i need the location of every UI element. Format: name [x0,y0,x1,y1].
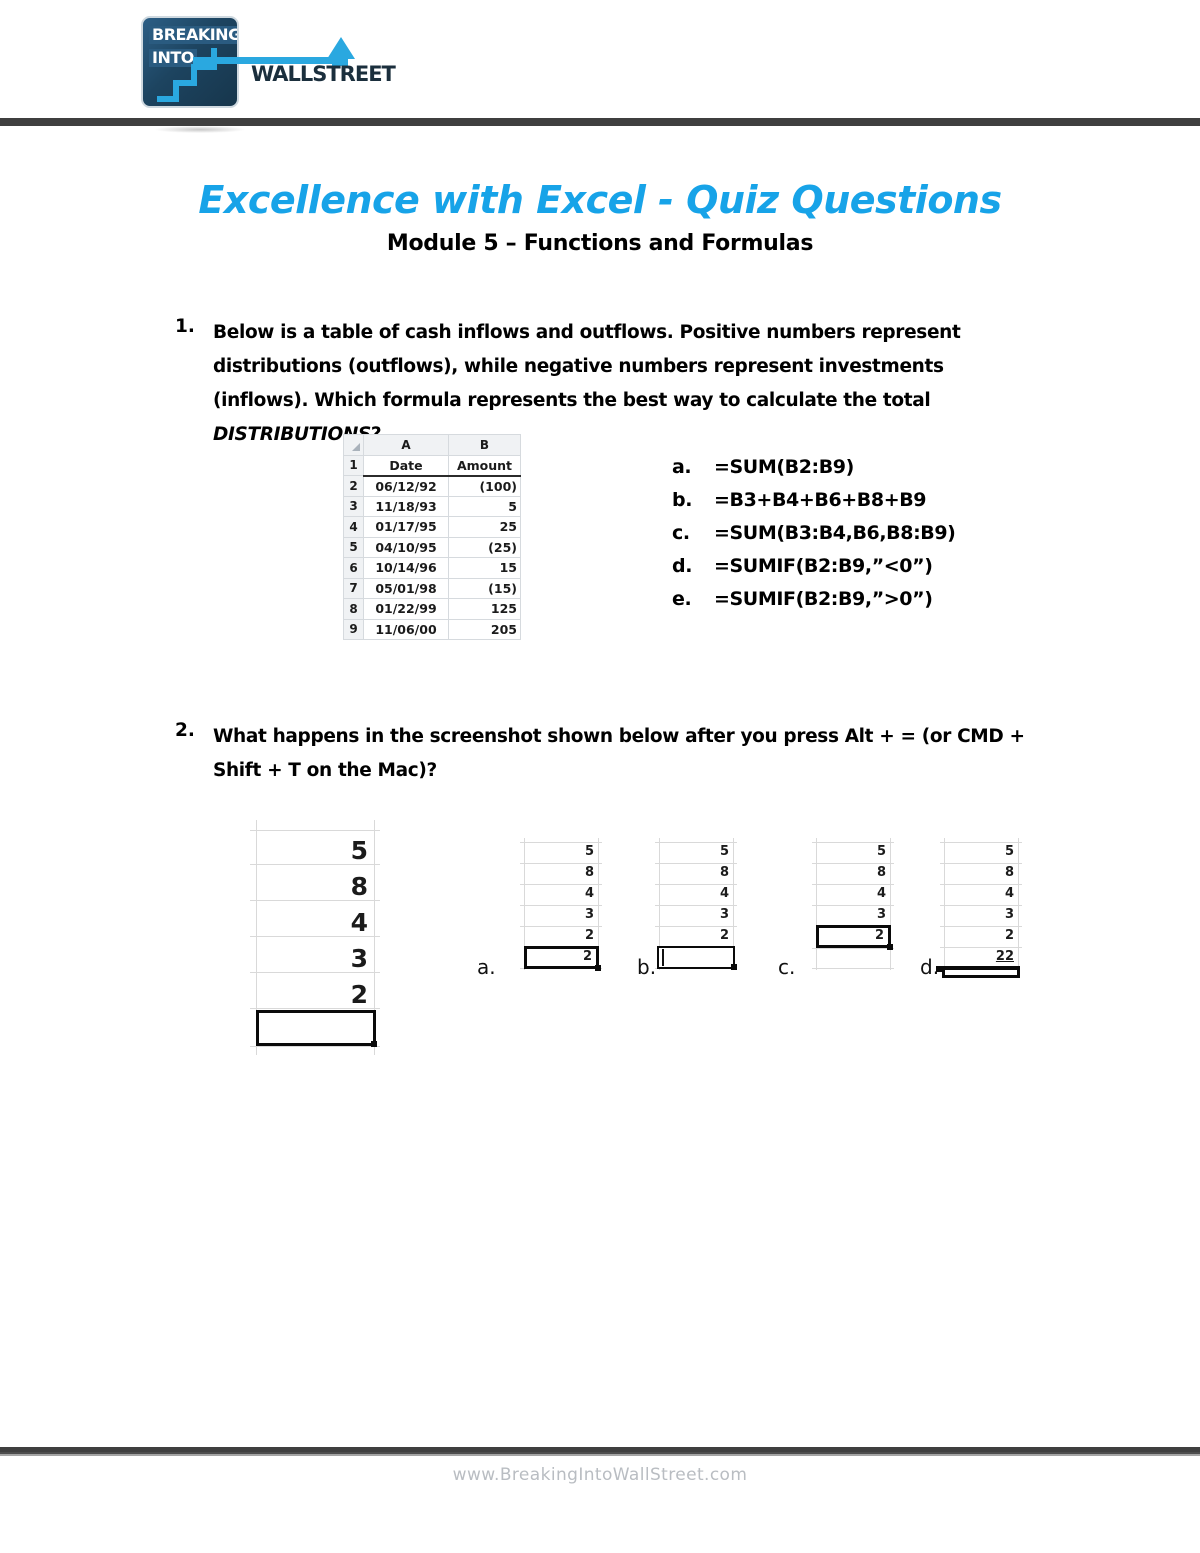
question-1-text-part1: Below is a table of cash inflows and out… [213,322,960,411]
grid-hline [812,968,894,969]
main-cell-value-3: 4 [310,908,368,937]
question-2-option-c-spreadsheet: 5 8 4 3 2 [812,838,894,973]
answer-option-e[interactable]: e. =SUMIF(B2:B9,”>0”) [672,583,955,616]
logo-text-wallstreet: WALLSTREET [251,62,395,86]
cell-a4: 01/17/95 [364,517,449,538]
question-2-option-a-spreadsheet: 5 8 4 3 2 2 [520,838,602,973]
cell-a1: Date [364,455,449,476]
answer-formula-a: =SUM(B2:B9) [714,451,854,484]
answer-formula-c: =SUM(B3:B4,B6,B8:B9) [714,517,955,550]
select-all-triangle-icon [344,435,364,456]
cell-b5: (25) [449,537,521,558]
row-header-7: 7 [344,578,364,599]
grid-hline [520,905,602,906]
option-c-fill-handle[interactable] [887,944,893,950]
table-row: 9 11/06/00 205 [344,619,521,640]
answer-letter-e: e. [672,583,714,616]
question-2-block: 2. What happens in the screenshot shown … [175,720,1065,788]
table-row: 4 01/17/95 25 [344,517,521,538]
main-cell-value-5: 2 [310,980,368,1009]
question-1-spreadsheet-table: A B 1 Date Amount 2 06/12/92 (100) 3 11/… [343,434,521,640]
document-subtitle: Module 5 – Functions and Formulas [0,231,1200,256]
grid-vline [944,838,945,970]
question-2-number: 2. [175,720,195,741]
header-shadow [155,126,245,133]
grid-vline [1018,838,1019,970]
answer-option-b[interactable]: b. =B3+B4+B6+B8+B9 [672,484,955,517]
option-a-cell-value-4: 3 [544,907,594,922]
grid-hline [812,905,894,906]
row-header-9: 9 [344,619,364,640]
answer-letter-d: d. [672,550,714,583]
option-a-cell-value-1: 5 [544,844,594,859]
grid-hline [812,842,894,843]
row-header-3: 3 [344,496,364,517]
table-row: 2 06/12/92 (100) [344,476,521,497]
cell-b2: (100) [449,476,521,497]
main-selected-cell[interactable] [256,1010,376,1046]
grid-hline [655,884,737,885]
main-cell-value-1: 5 [310,836,368,865]
option-b-selected-cell[interactable] [657,946,735,969]
grid-hline [655,905,737,906]
grid-hline [520,926,602,927]
question-1-answer-list: a. =SUM(B2:B9) b. =B3+B4+B6+B8+B9 c. =SU… [672,451,955,616]
row-header-1: 1 [344,455,364,476]
grid-hline [250,1046,380,1047]
option-d-cell-value-3: 4 [964,886,1014,901]
cell-a6: 10/14/96 [364,558,449,579]
cell-a2: 06/12/92 [364,476,449,497]
option-b-cell-value-5: 2 [679,928,729,943]
cell-b3: 5 [449,496,521,517]
cell-a5: 04/10/95 [364,537,449,558]
row-header-5: 5 [344,537,364,558]
grid-hline [520,884,602,885]
grid-hline [940,926,1022,927]
option-a-cell-value-3: 4 [544,886,594,901]
option-d-cell-value-5: 2 [964,928,1014,943]
table-row: 6 10/14/96 15 [344,558,521,579]
grid-hline [520,863,602,864]
option-b-cell-value-2: 8 [679,865,729,880]
option-d-fill-handle[interactable] [936,966,942,972]
page-header: BREAKING INTO WALLSTREET [0,0,1200,122]
row-header-8: 8 [344,599,364,620]
option-c-cell-value-1: 5 [836,844,886,859]
answer-letter-c: c. [672,517,714,550]
option-b-cell-value-3: 4 [679,886,729,901]
option-c-cell-value-2: 8 [836,865,886,880]
grid-hline [812,884,894,885]
answer-option-d[interactable]: d. =SUMIF(B2:B9,”<0”) [672,550,955,583]
question-2-option-d-spreadsheet: 5 8 4 3 2 22 [940,838,1022,973]
question-1-number: 1. [175,316,195,337]
grid-hline [940,884,1022,885]
option-b-letter: b. [637,955,656,979]
main-cell-value-2: 8 [310,872,368,901]
cell-a8: 01/22/99 [364,599,449,620]
question-2-text: What happens in the screenshot shown bel… [213,720,1065,788]
main-cell-value-4: 3 [310,944,368,973]
logo-arrow-up-icon [327,37,355,59]
option-d-selected-cell[interactable] [942,966,1020,978]
option-b-cell-value-4: 3 [679,907,729,922]
table-column-header-row: A B [344,435,521,456]
row-header-6: 6 [344,558,364,579]
grid-vline [816,838,817,970]
cell-b8: 125 [449,599,521,620]
option-a-letter: a. [477,955,496,979]
breaking-into-wallstreet-logo: BREAKING INTO WALLSTREET [141,16,356,111]
cell-a3: 11/18/93 [364,496,449,517]
grid-hline [655,863,737,864]
cell-b1: Amount [449,455,521,476]
footer-url: www.BreakingIntoWallStreet.com [0,1465,1200,1485]
answer-formula-b: =B3+B4+B6+B8+B9 [714,484,926,517]
cell-b9: 205 [449,619,521,640]
main-fill-handle[interactable] [371,1041,377,1047]
option-c-selected-cell-value: 2 [836,928,884,943]
grid-hline [940,905,1022,906]
column-header-b: B [449,435,521,456]
question-2-option-b-spreadsheet: 5 8 4 3 2 [655,838,737,973]
option-d-cell-value-4: 3 [964,907,1014,922]
footer-divider-secondary [0,1452,1200,1456]
grid-hline [940,947,1022,948]
answer-option-c[interactable]: c. =SUM(B3:B4,B6,B8:B9) [672,517,955,550]
table-row: 7 05/01/98 (15) [344,578,521,599]
option-a-cell-value-5: 2 [544,928,594,943]
grid-hline [940,863,1022,864]
answer-option-a[interactable]: a. =SUM(B2:B9) [672,451,955,484]
row-header-4: 4 [344,517,364,538]
option-b-text-cursor [662,949,664,966]
option-a-cell-value-2: 8 [544,865,594,880]
option-a-fill-handle[interactable] [595,965,601,971]
option-b-fill-handle[interactable] [731,964,737,970]
option-c-letter: c. [778,955,795,979]
table-row: 5 04/10/95 (25) [344,537,521,558]
cell-a9: 11/06/00 [364,619,449,640]
table-row: 8 01/22/99 125 [344,599,521,620]
grid-hline [655,926,737,927]
column-header-a: A [364,435,449,456]
option-c-cell-value-4: 3 [836,907,886,922]
answer-letter-b: b. [672,484,714,517]
question-1-text: Below is a table of cash inflows and out… [213,316,1035,452]
cell-b7: (15) [449,578,521,599]
logo-text-into: INTO [149,49,197,67]
logo-stair-riser-1 [173,80,179,100]
logo-stair-riser-2 [191,64,197,84]
option-d-cell-value-2: 8 [964,865,1014,880]
grid-hline [520,842,602,843]
option-d-cell-value-1: 5 [964,844,1014,859]
question-2-main-spreadsheet: 5 8 4 3 2 [250,820,380,1060]
header-divider [0,118,1200,126]
grid-hline [655,842,737,843]
cell-b4: 25 [449,517,521,538]
option-b-cell-value-1: 5 [679,844,729,859]
row-header-2: 2 [344,476,364,497]
grid-vline [890,838,891,970]
table-row: 3 11/18/93 5 [344,496,521,517]
answer-formula-e: =SUMIF(B2:B9,”>0”) [714,583,933,616]
option-c-cell-value-3: 4 [836,886,886,901]
cell-b6: 15 [449,558,521,579]
answer-letter-a: a. [672,451,714,484]
grid-hline [250,830,380,831]
grid-hline [940,842,1022,843]
option-a-selected-cell-value: 2 [544,949,592,964]
question-1-block: 1. Below is a table of cash inflows and … [175,316,1035,452]
grid-hline [812,948,894,949]
logo-text-breaking: BREAKING [149,26,239,44]
grid-hline [812,863,894,864]
cell-a7: 05/01/98 [364,578,449,599]
document-title: Excellence with Excel - Quiz Questions [0,178,1200,222]
table-row: 1 Date Amount [344,455,521,476]
option-d-sum-value: 22 [958,949,1014,964]
answer-formula-d: =SUMIF(B2:B9,”<0”) [714,550,933,583]
